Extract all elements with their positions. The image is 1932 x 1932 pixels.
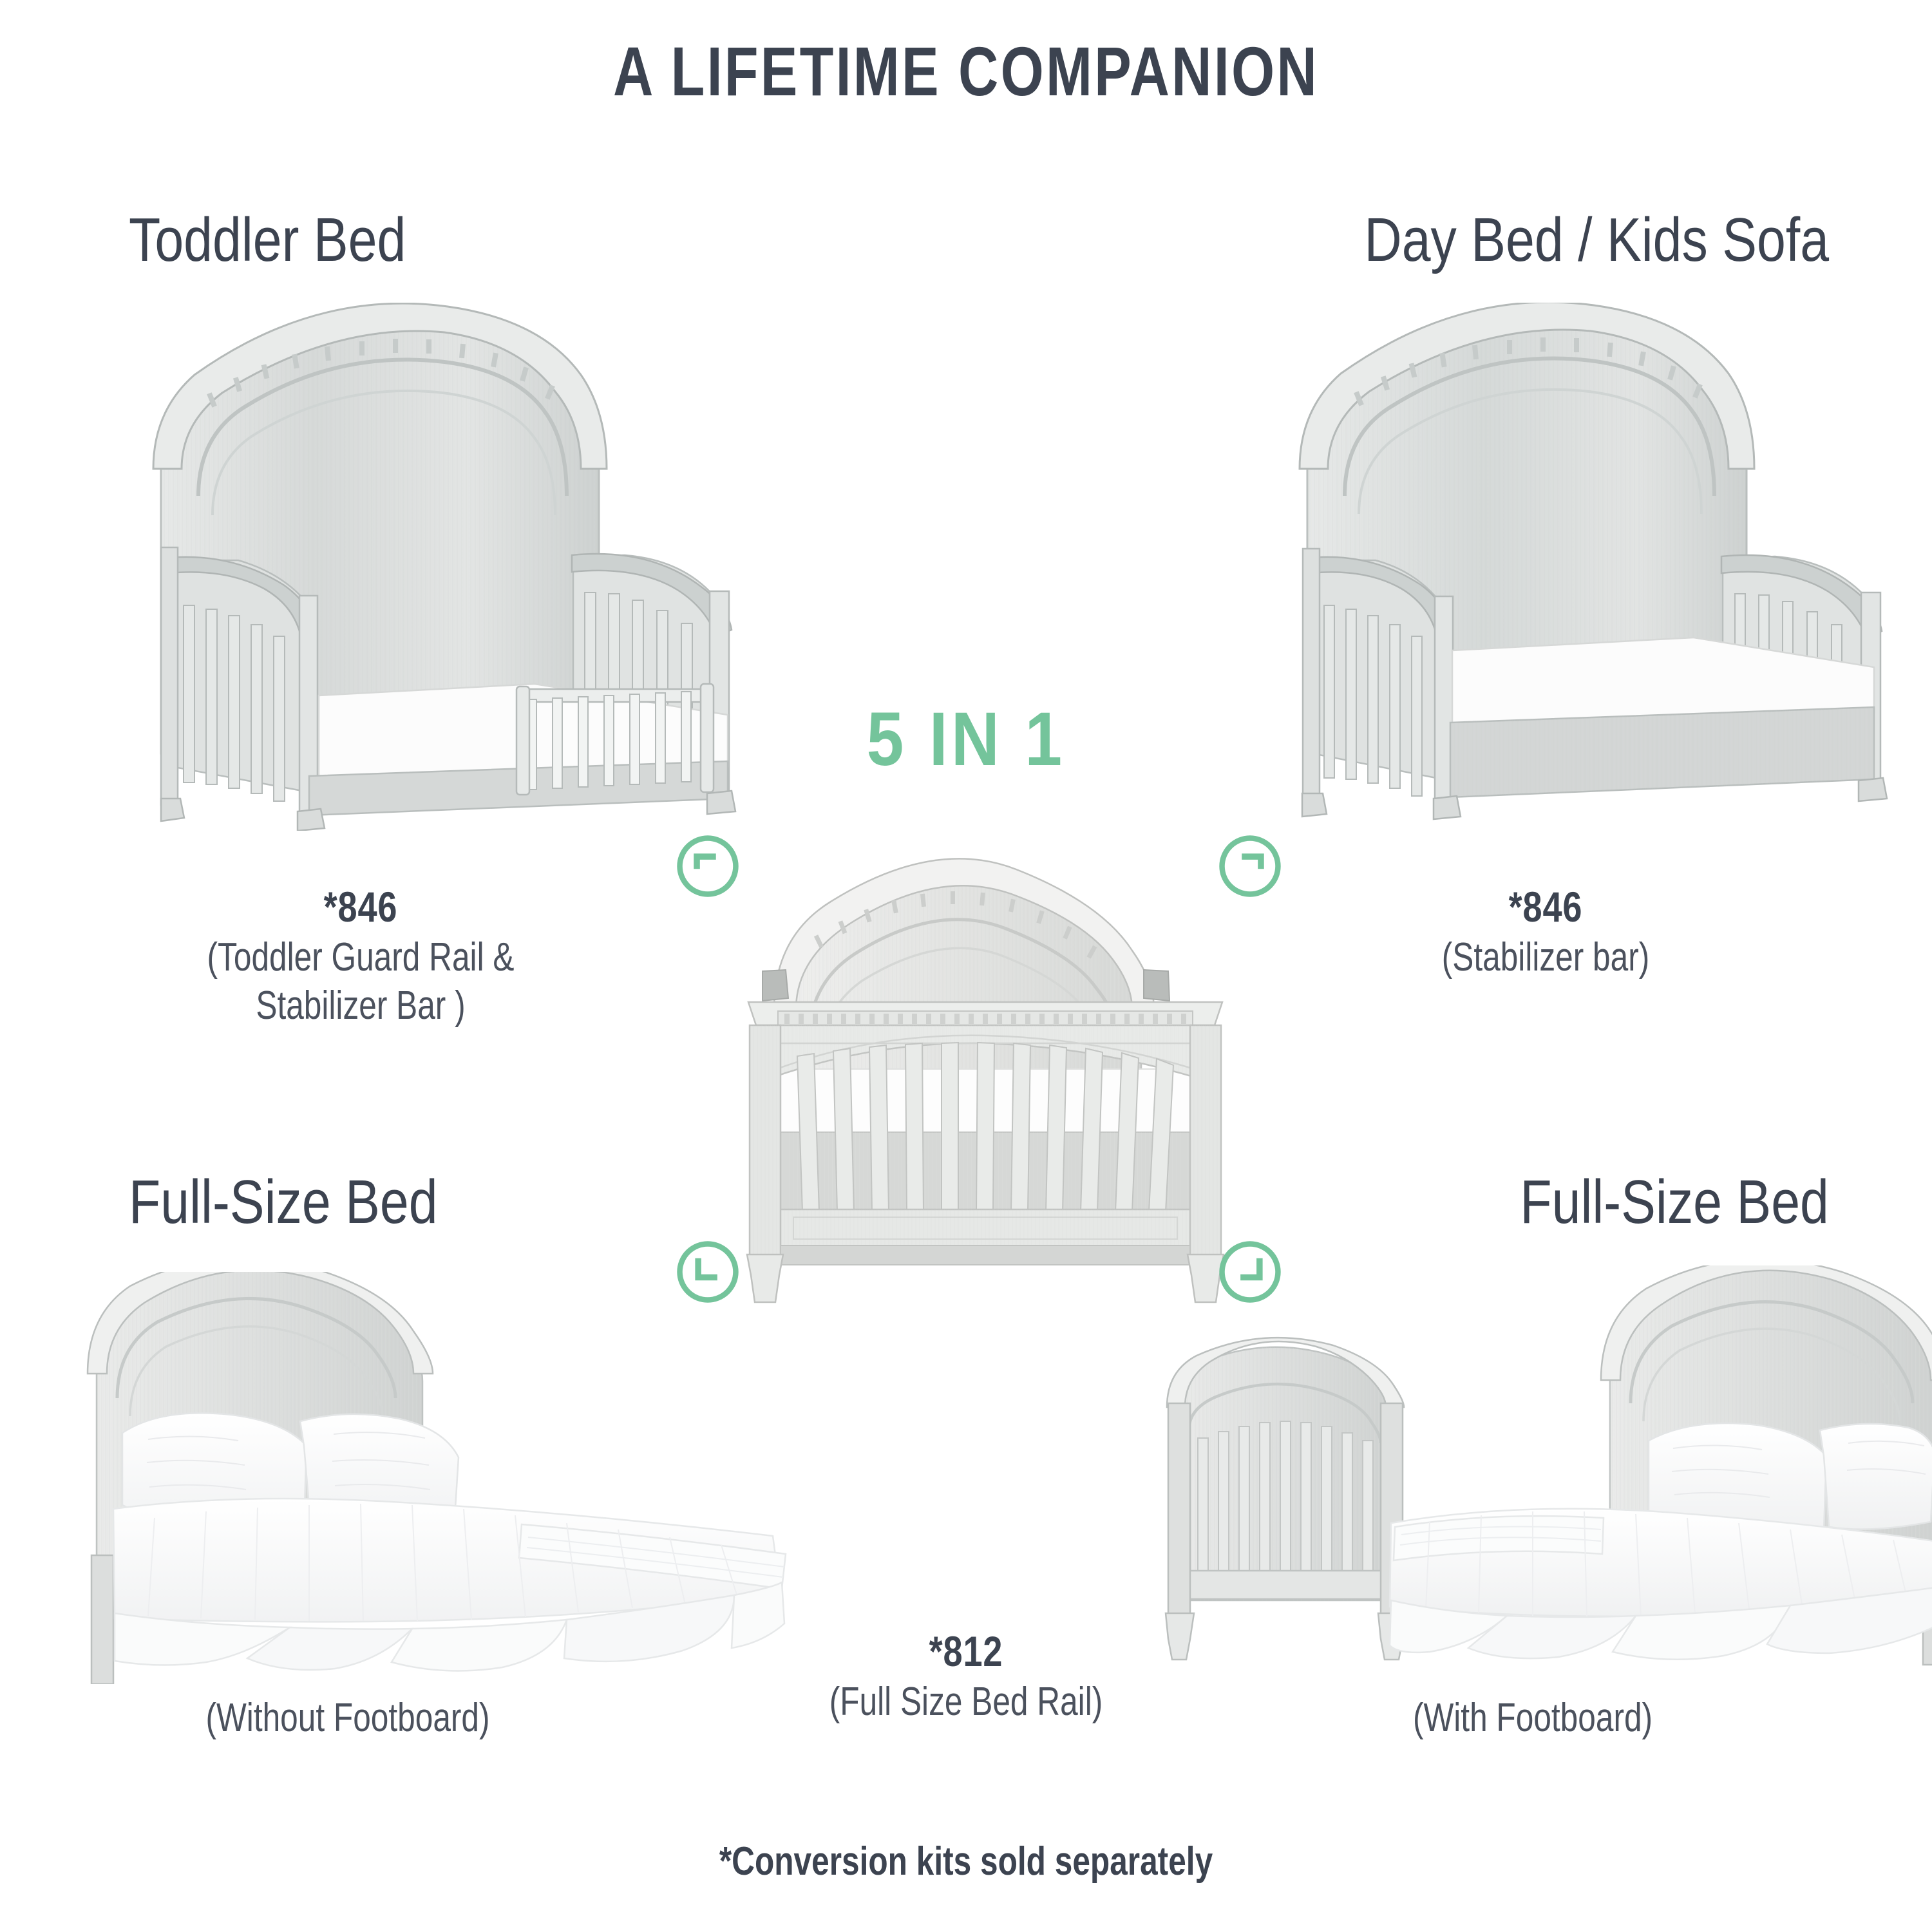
with-footboard-note: (With Footboard) (1275, 1694, 1790, 1743)
toddler-bed-code: *846 (97, 881, 625, 933)
heading-full-size-bed-left: Full-Size Bed (129, 1167, 438, 1238)
page-title: A LIFETIME COMPANION (193, 31, 1739, 111)
heading-toddler-bed: Toddler Bed (129, 205, 406, 276)
full-size-bed-with-footboard-image (1159, 1265, 1932, 1684)
toddler-bed-note-line2: Stabilizer Bar ) (103, 981, 618, 1030)
corner-top-left-icon[interactable] (674, 832, 742, 900)
day-bed-code: *846 (1282, 881, 1810, 933)
day-bed-note: (Stabilizer bar) (1288, 933, 1803, 982)
bed-rail-note: (Full Size Bed Rail) (770, 1678, 1162, 1727)
toddler-bed-image (122, 303, 779, 831)
convertible-crib-image (741, 857, 1230, 1320)
caption-toddler-bed: *846 (Toddler Guard Rail & Stabilizer Ba… (39, 881, 683, 1030)
caption-with-footboard: (With Footboard) (1211, 1694, 1855, 1743)
caption-bed-rail: *812 (Full Size Bed Rail) (721, 1625, 1211, 1726)
without-footboard-note: (Without Footboard) (90, 1694, 605, 1743)
day-bed-image (1282, 303, 1932, 831)
toddler-bed-note-line1: (Toddler Guard Rail & (103, 933, 618, 982)
corner-bottom-right-icon[interactable] (1216, 1238, 1284, 1306)
heading-day-bed: Day Bed / Kids Sofa (1364, 205, 1829, 276)
heading-full-size-bed-right: Full-Size Bed (1520, 1167, 1829, 1238)
corner-bottom-left-icon[interactable] (674, 1238, 742, 1306)
full-size-bed-without-footboard-image (77, 1272, 889, 1684)
footer-disclaimer: *Conversion kits sold separately (193, 1839, 1739, 1884)
caption-without-footboard: (Without Footboard) (26, 1694, 670, 1743)
caption-day-bed: *846 (Stabilizer bar) (1224, 881, 1868, 981)
bed-rail-code: *812 (765, 1625, 1166, 1678)
